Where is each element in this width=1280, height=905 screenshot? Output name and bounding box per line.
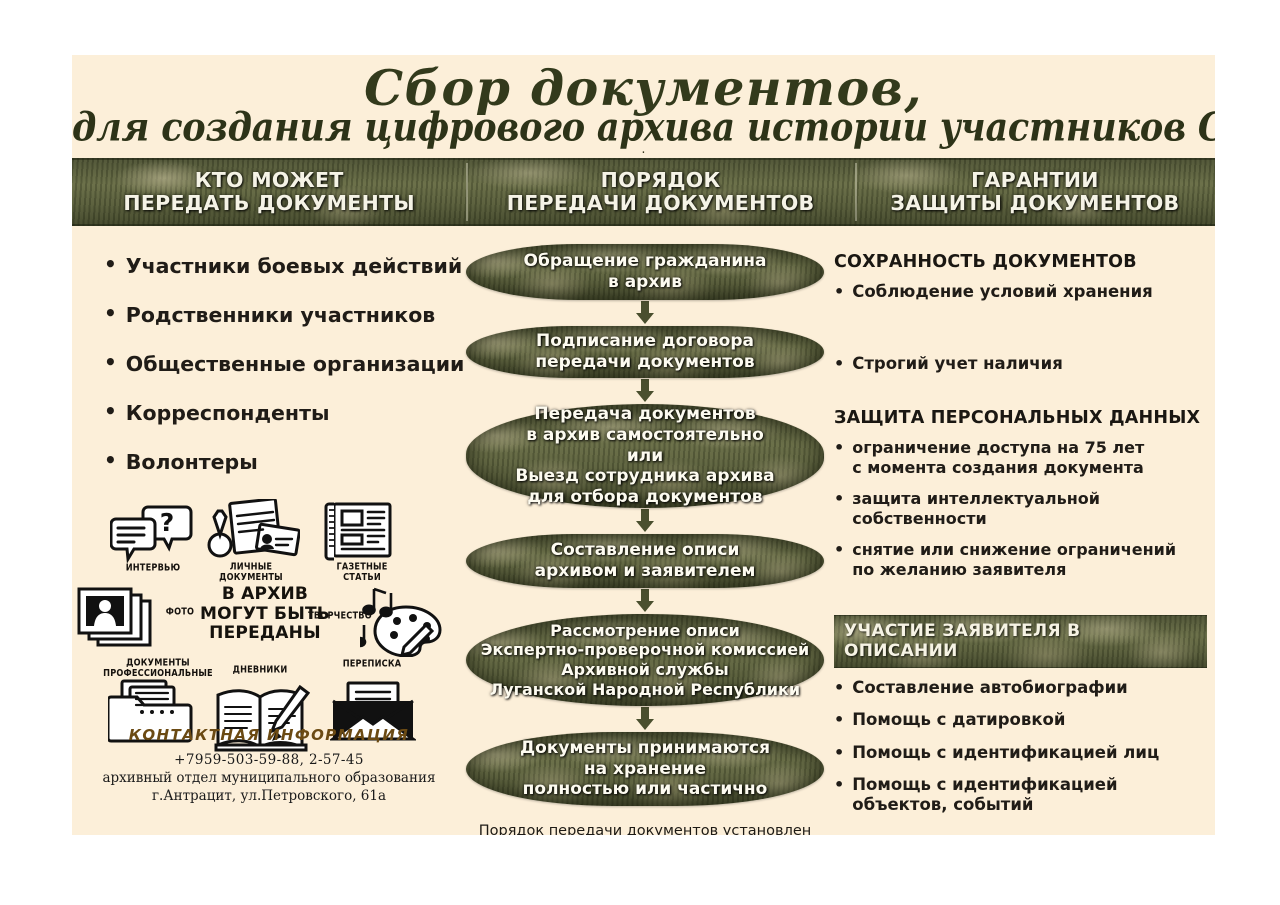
icon-cluster: ? ИНТЕРВЬЮ xyxy=(72,499,466,757)
list-item-label: ограничение доступа на 75 лет с момента … xyxy=(852,438,1144,477)
flowchart-note: Порядок передачи документов установлен П… xyxy=(466,822,824,835)
who-list: • Участники боевых действий • Родственни… xyxy=(72,232,466,474)
contacts-org: архивный отдел муниципального образовани… xyxy=(72,769,466,787)
header-column-guarantees: ГАРАНТИИ ЗАЩИТЫ ДОКУМЕНТОВ xyxy=(855,158,1215,226)
bullet-icon: • xyxy=(104,303,117,323)
list-item: • ограничение доступа на 75 лет с момент… xyxy=(834,438,1207,477)
section-header-band: КТО МОЖЕТ ПЕРЕДАТЬ ДОКУМЕНТЫ ПОРЯДОК ПЕР… xyxy=(72,158,1215,226)
list-item: • Помощь с датировкой xyxy=(834,710,1207,730)
list-item: • снятие или снижение ограничений по жел… xyxy=(834,540,1207,579)
personal-documents-icon xyxy=(204,499,300,565)
bullet-icon: • xyxy=(834,540,844,559)
title-zone: Сбор документов, для создания цифрового … xyxy=(72,55,1215,158)
list-item: • Волонтеры xyxy=(104,450,466,474)
palette-music-icon xyxy=(360,585,446,657)
bullet-icon: • xyxy=(834,354,844,373)
bullet-icon: • xyxy=(834,282,844,301)
section-heading-preservation: СОХРАННОСТЬ ДОКУМЕНТОВ xyxy=(834,252,1207,272)
flow-step-5: Рассмотрение описи Экспертно-проверочной… xyxy=(466,614,824,706)
contacts-phones: +7959-503-59-88, 2-57-45 xyxy=(72,751,466,769)
bullet-icon: • xyxy=(104,254,117,274)
contact-information: КОНТАКТНАЯ ИНФОРМАЦИЯ +7959-503-59-88, 2… xyxy=(72,726,466,805)
list-item-label: Помощь с датировкой xyxy=(852,710,1065,730)
contacts-heading: КОНТАКТНАЯ ИНФОРМАЦИЯ xyxy=(72,726,466,744)
list-item-label: Помощь с идентификацией объектов, событи… xyxy=(852,775,1117,815)
flow-step-1: Обращение гражданина в архив xyxy=(466,244,824,300)
list-item: • Составление автобиографии xyxy=(834,678,1207,698)
bullet-icon: • xyxy=(834,710,844,729)
icon-label-correspondence: ПЕРЕПИСКА xyxy=(328,658,416,669)
list-item: • Соблюдение условий хранения xyxy=(834,282,1207,302)
list-item-label: Соблюдение условий хранения xyxy=(852,282,1153,302)
list-item: • Участники боевых действий xyxy=(104,254,466,278)
icon-label-news-articles: ГАЗЕТНЫЕ СТАТЬИ xyxy=(316,562,408,583)
flow-arrow-down-icon xyxy=(466,588,824,614)
list-item: • защита интеллектуальной собственности xyxy=(834,489,1207,528)
list-item-label: снятие или снижение ограничений по желан… xyxy=(852,540,1176,579)
header-column-who: КТО МОЖЕТ ПЕРЕДАТЬ ДОКУМЕНТЫ xyxy=(72,158,466,226)
bullet-icon: • xyxy=(834,678,844,697)
flow-step-3: Передача документов в архив самостоятель… xyxy=(466,404,824,508)
body-columns: • Участники боевых действий • Родственни… xyxy=(72,226,1215,835)
list-item: • Помощь с идентификацией объектов, собы… xyxy=(834,775,1207,815)
section-heading-applicant-participation: УЧАСТИЕ ЗАЯВИТЕЛЯ В ОПИСАНИИ xyxy=(834,615,1207,668)
icon-cluster-caption: В АРХИВ МОГУТ БЫТЬ ПЕРЕДАНЫ xyxy=(200,585,330,644)
flow-arrow-down-icon xyxy=(466,706,824,732)
list-item: • Помощь с идентификацией лиц xyxy=(834,743,1207,763)
bullet-icon: • xyxy=(104,352,117,372)
list-item-label: Родственники участников xyxy=(126,303,435,327)
list-item-label: защита интеллектуальной собственности xyxy=(852,489,1100,528)
bullet-icon: • xyxy=(834,775,844,794)
bullet-icon: • xyxy=(834,489,844,508)
column-transfer-procedure: Обращение гражданина в архив Подписание … xyxy=(466,232,824,835)
speech-bubbles-icon: ? xyxy=(110,501,194,563)
bullet-icon: • xyxy=(834,438,844,457)
poster: Сбор документов, для создания цифрового … xyxy=(72,55,1215,835)
icon-label-interview: ИНТЕРВЬЮ xyxy=(110,562,196,573)
list-item: • Строгий учет наличия xyxy=(834,354,1207,374)
newspaper-icon xyxy=(324,501,394,563)
list-item-label: Участники боевых действий xyxy=(126,254,462,278)
list-item-label: Составление автобиографии xyxy=(852,678,1128,698)
svg-text:?: ? xyxy=(160,508,175,537)
icon-label-photo: ФОТО xyxy=(160,606,200,617)
flow-arrow-down-icon xyxy=(466,508,824,534)
list-item-label: Волонтеры xyxy=(126,450,258,474)
section-heading-personal-data: ЗАЩИТА ПЕРСОНАЛЬНЫХ ДАННЫХ xyxy=(834,408,1207,428)
flow-step-2: Подписание договора передачи документов xyxy=(466,326,824,378)
title-dot: . xyxy=(72,147,1215,153)
list-item: • Общественные организации xyxy=(104,352,466,376)
list-item-label: Общественные организации xyxy=(126,352,465,376)
icon-label-personal-docs: ЛИЧНЫЕ ДОКУМЕНТЫ xyxy=(196,562,306,583)
flow-step-4: Составление описи архивом и заявителем xyxy=(466,534,824,588)
photos-icon xyxy=(76,587,156,649)
bullet-icon: • xyxy=(104,450,117,470)
list-item-label: Помощь с идентификацией лиц xyxy=(852,743,1159,763)
column-document-guarantees: СОХРАННОСТЬ ДОКУМЕНТОВ • Соблюдение усло… xyxy=(824,232,1215,835)
list-item: • Родственники участников xyxy=(104,303,466,327)
column-who-can-transfer: • Участники боевых действий • Родственни… xyxy=(72,232,466,835)
flow-arrow-down-icon xyxy=(466,378,824,404)
list-item-label: Строгий учет наличия xyxy=(852,354,1063,374)
icon-label-diaries: ДНЕВНИКИ xyxy=(220,664,300,675)
flow-arrow-down-icon xyxy=(466,300,824,326)
list-item-label: Корреспонденты xyxy=(126,401,330,425)
bullet-icon: • xyxy=(104,401,117,421)
flowchart: Обращение гражданина в архив Подписание … xyxy=(466,232,824,835)
bullet-icon: • xyxy=(834,743,844,762)
contacts-address: г.Антрацит, ул.Петровского, 61а xyxy=(72,787,466,805)
header-column-procedure: ПОРЯДОК ПЕРЕДАЧИ ДОКУМЕНТОВ xyxy=(466,158,855,226)
flow-step-6: Документы принимаются на хранение полнос… xyxy=(466,732,824,806)
list-item: • Корреспонденты xyxy=(104,401,466,425)
icon-label-professional-docs: ДОКУМЕНТЫ ПРОФЕССИОНАЛЬНЫЕ xyxy=(94,658,222,679)
